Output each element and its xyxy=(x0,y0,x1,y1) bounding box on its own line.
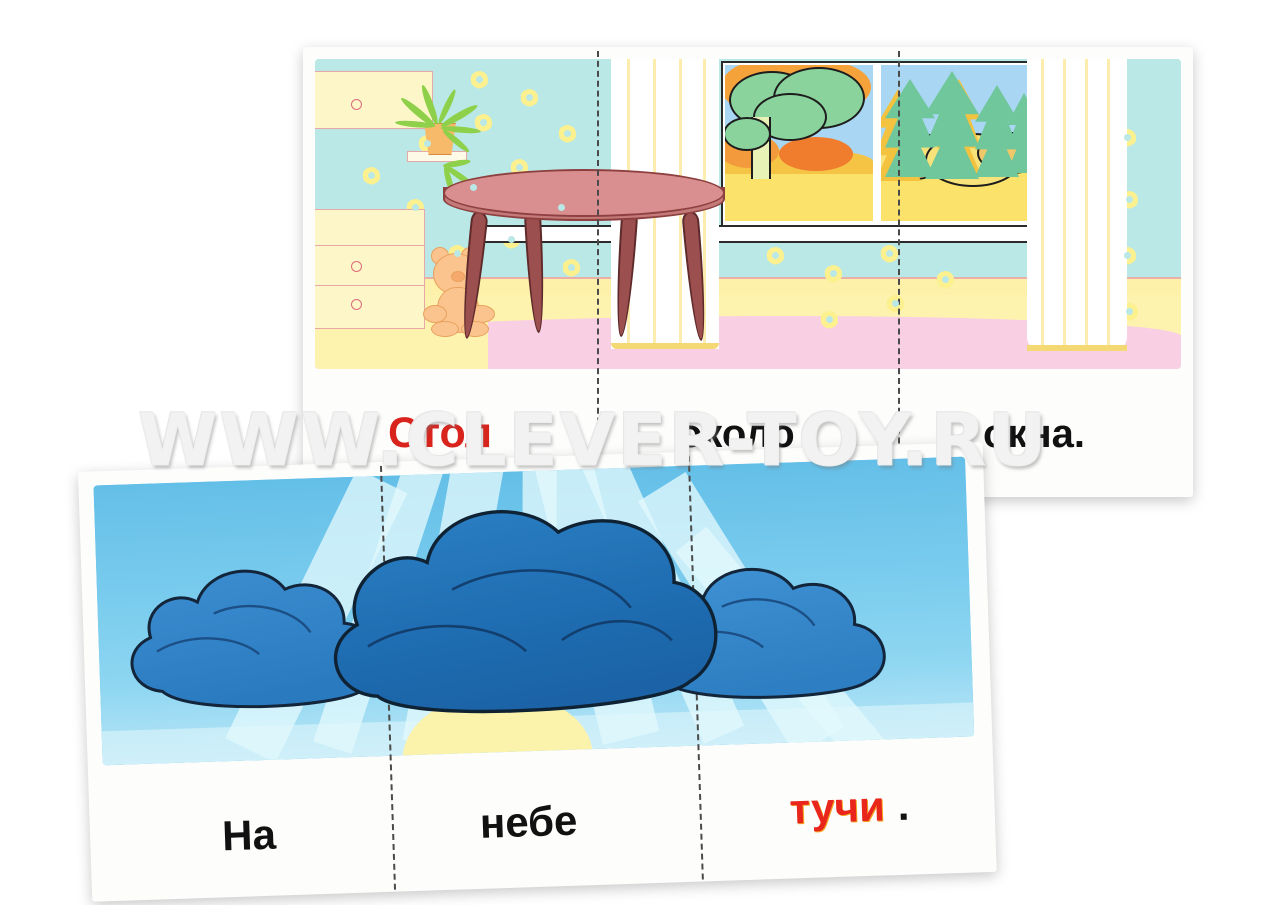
window-pane-left xyxy=(725,65,873,221)
dresser-knob-1 xyxy=(351,261,362,272)
curtain-right xyxy=(1027,59,1127,351)
card-clouds-sky[interactable]: На небе тучи . xyxy=(78,442,997,902)
cloud-center xyxy=(309,484,737,748)
scene-clouds-in-sky xyxy=(93,457,974,766)
cabinet-knob xyxy=(351,99,362,110)
card-table-window[interactable]: Стол около окна. xyxy=(303,47,1193,497)
word-nebe[interactable]: небе xyxy=(479,800,578,845)
word-okna[interactable]: окна. xyxy=(983,414,1085,454)
scene-room-with-table xyxy=(315,59,1181,369)
dresser-top xyxy=(315,209,425,249)
dresser-drawer-2 xyxy=(315,285,425,329)
word-na[interactable]: На xyxy=(221,814,276,858)
window-pane-right xyxy=(881,65,1031,221)
word-period: . xyxy=(897,785,910,827)
dresser-knob-2 xyxy=(351,299,362,310)
window-sill xyxy=(475,225,1035,243)
window-frame xyxy=(721,61,1037,229)
word-stol[interactable]: Стол xyxy=(388,412,492,455)
word-tuchi[interactable]: тучи xyxy=(789,785,886,830)
sentence-row-bottom: На небе тучи . xyxy=(88,742,996,892)
dresser-drawer-1 xyxy=(315,245,425,289)
